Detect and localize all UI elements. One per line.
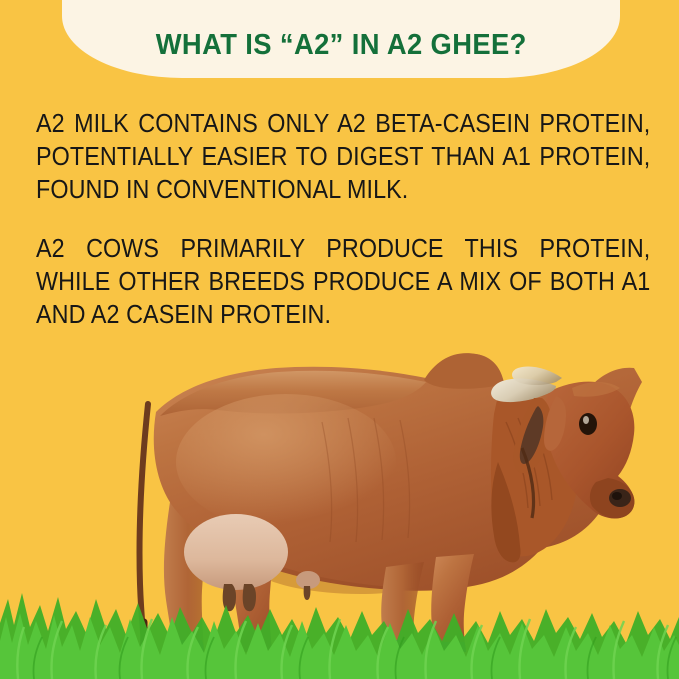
page-title: WHAT IS “A2” IN A2 GHEE? [155,29,526,62]
paragraph-two: A2 COWS PRIMARILY PRODUCE THIS PROTEIN, … [36,233,650,332]
grass-strip [0,559,679,679]
paragraph-one: A2 MILK CONTAINS ONLY A2 BETA-CASEIN PRO… [36,108,650,207]
a2-ghee-infographic: WHAT IS “A2” IN A2 GHEE? A2 MILK CONTAIN… [0,0,679,679]
body-copy: A2 MILK CONTAINS ONLY A2 BETA-CASEIN PRO… [36,108,652,332]
title-card: WHAT IS “A2” IN A2 GHEE? [62,0,620,78]
